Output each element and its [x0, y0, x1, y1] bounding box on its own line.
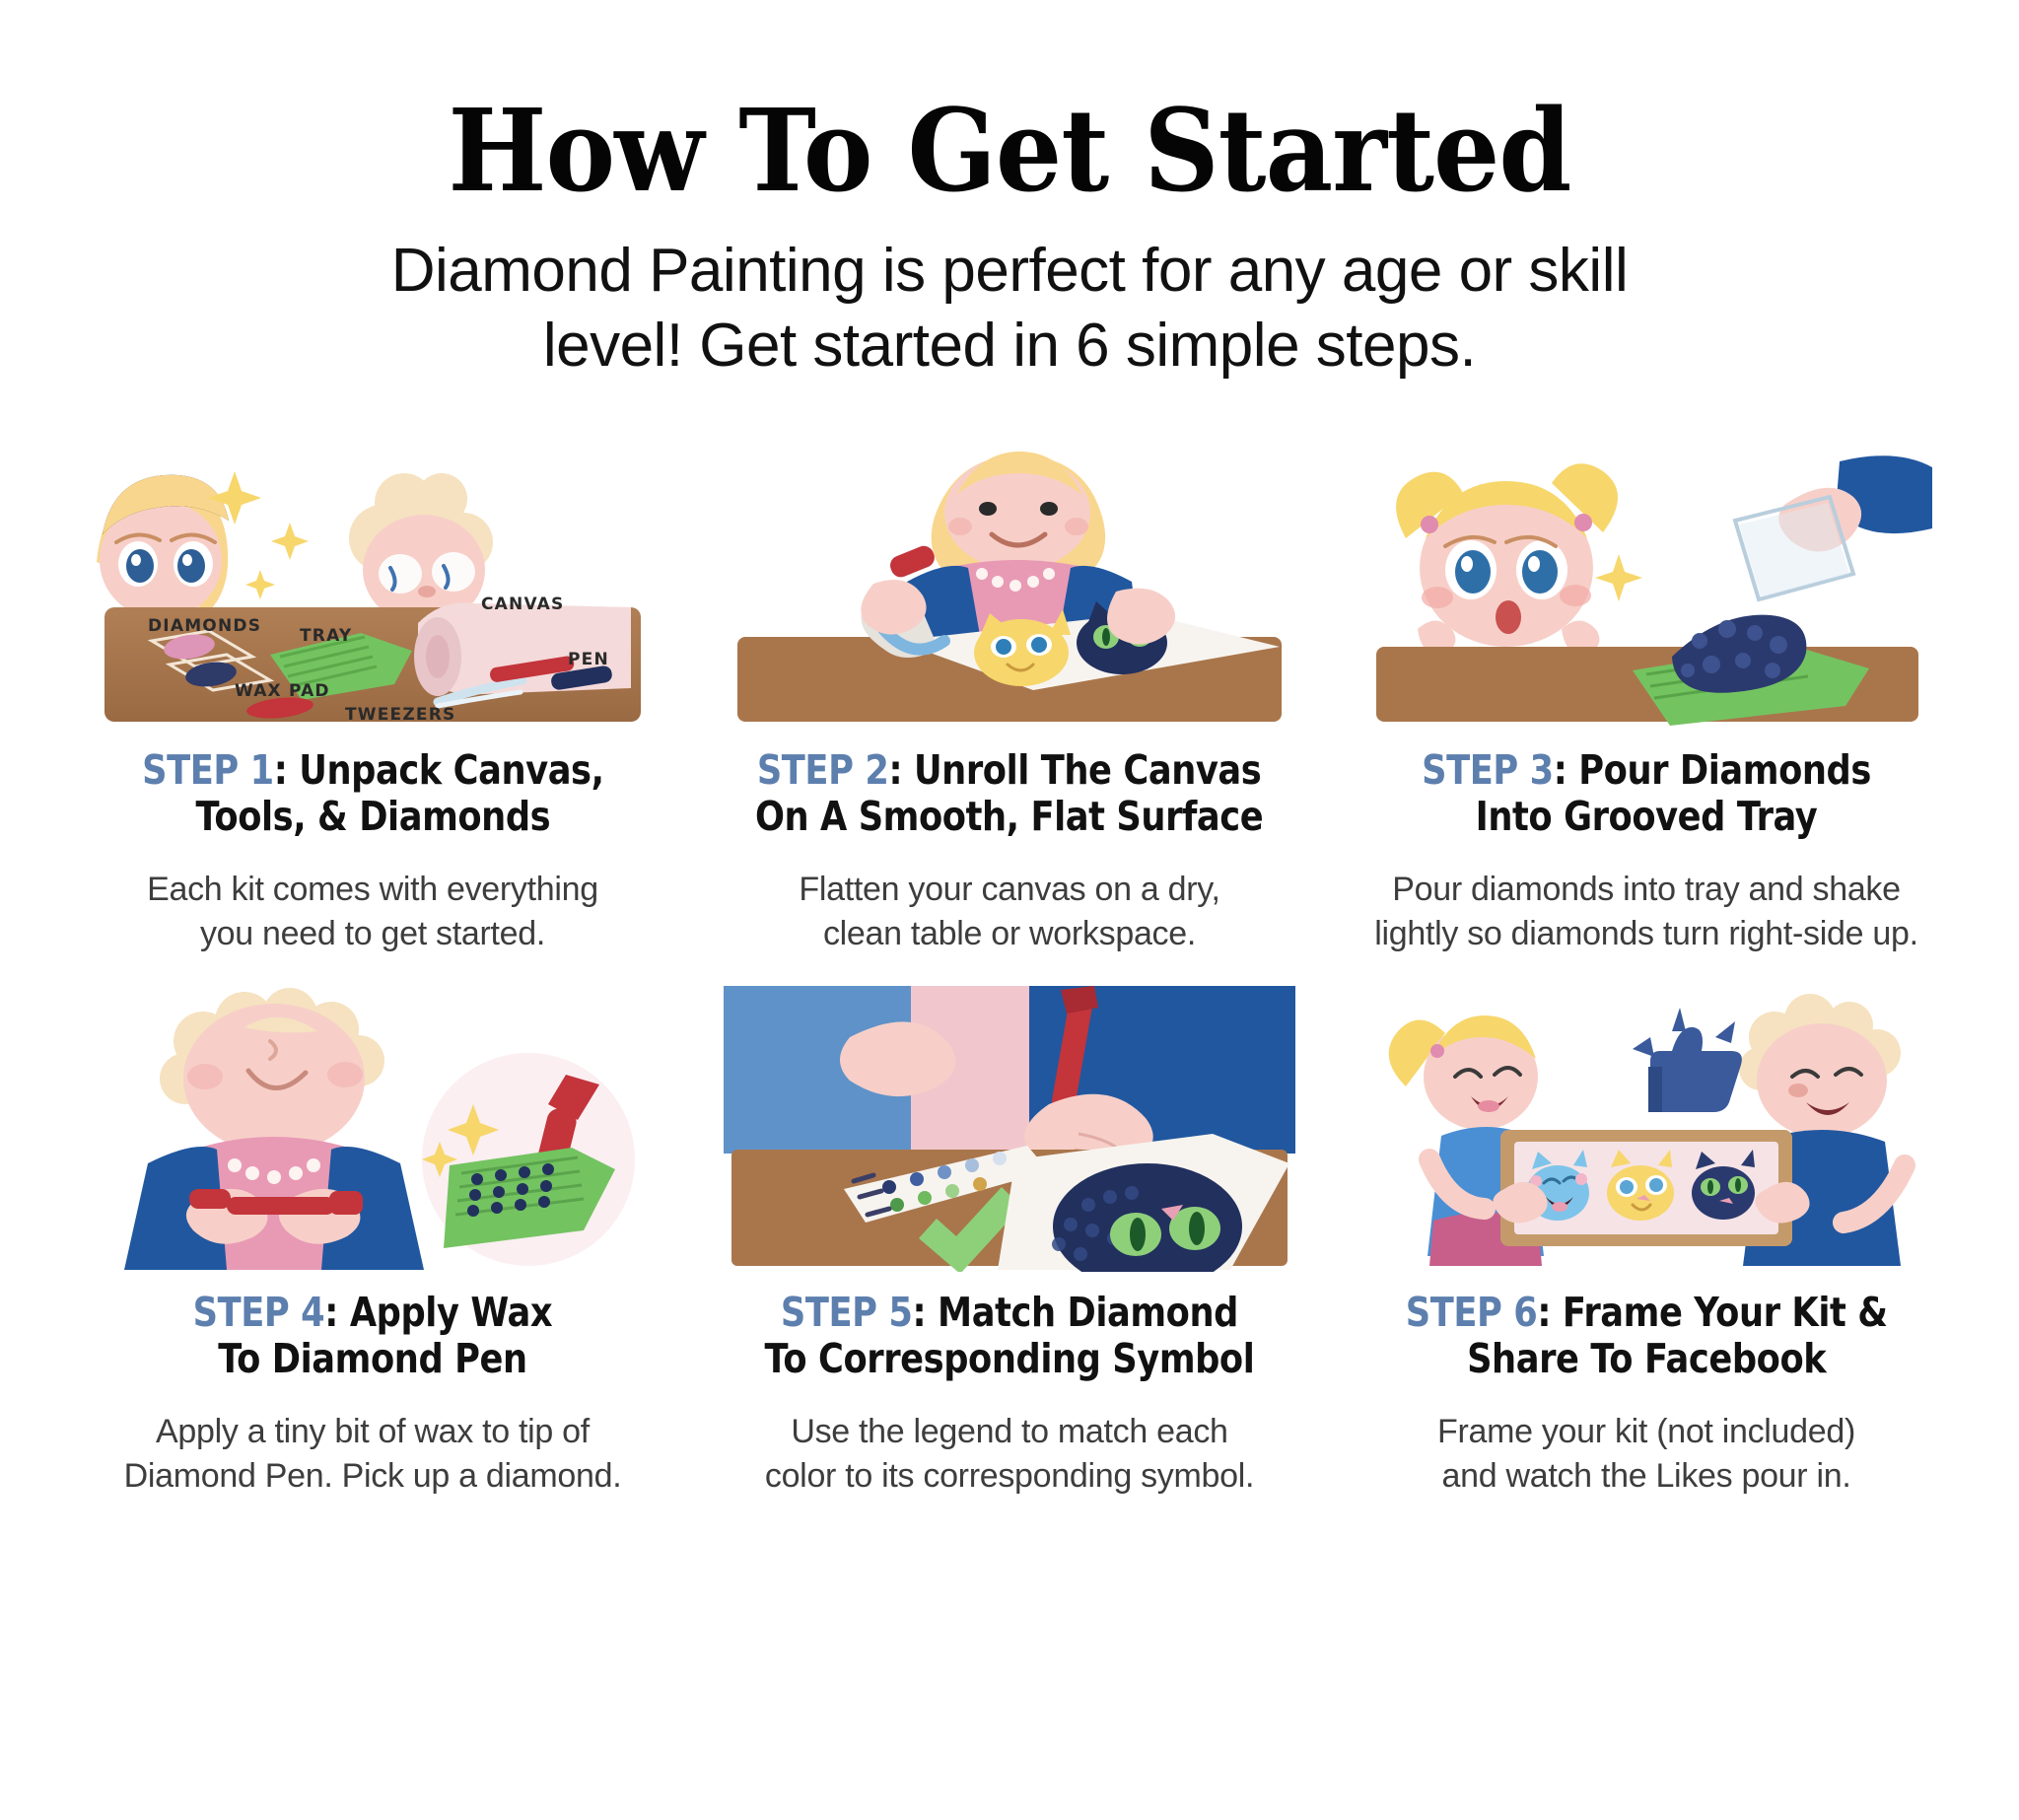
step-body-line1-1: Each kit comes with everything: [147, 868, 598, 912]
subtitle-line-1: Diamond Painting is perfect for any age …: [0, 234, 2019, 309]
step-title-line1-1: Unpack Canvas,: [299, 746, 603, 794]
step-label-2: STEP 2: [757, 746, 889, 794]
step-title-line2-5: To Corresponding Symbol: [765, 1335, 1255, 1382]
step-body-line2-1: you need to get started.: [147, 912, 598, 956]
step-label-5: STEP 5: [781, 1289, 913, 1336]
step-label-4: STEP 4: [193, 1289, 325, 1336]
page-subtitle: Diamond Painting is perfect for any age …: [0, 234, 2019, 383]
step-title-line2-6: Share To Facebook: [1467, 1335, 1826, 1382]
subtitle-line-2: level! Get started in 6 simple steps.: [0, 309, 2019, 384]
step-card-6: STEP 6: Frame Your Kit & Share To Facebo…: [1328, 986, 1965, 1499]
step-label-6: STEP 6: [1406, 1289, 1538, 1336]
unroll-canvas-illustration: [724, 444, 1295, 730]
step-separator-5: :: [913, 1289, 927, 1336]
step-title-line2-4: To Diamond Pen: [218, 1335, 526, 1382]
step-heading-4: STEP 4: Apply Wax To Diamond Pen: [193, 1290, 553, 1381]
label-tray: TRAY: [300, 626, 352, 646]
diamond-jar: [1735, 497, 1853, 599]
zoom-detail-circle: [422, 1053, 635, 1266]
label-pen: PEN: [568, 650, 609, 669]
step-label-1: STEP 1: [142, 746, 274, 794]
step-body-line2-2: clean table or workspace.: [799, 912, 1219, 956]
facebook-like-icon: [1633, 1008, 1742, 1112]
step-title-line1-4: Apply Wax: [350, 1289, 552, 1336]
step-label-3: STEP 3: [1422, 746, 1554, 794]
step-separator-1: :: [273, 746, 287, 794]
step-body-line2-5: color to its corresponding symbol.: [765, 1454, 1254, 1499]
sparkle-icon: [1595, 554, 1642, 601]
label-wax-pad: WAX PAD: [235, 681, 330, 701]
frame-kit-share-facebook-illustration: [1360, 986, 1932, 1272]
step-card-5: STEP 5: Match Diamond To Corresponding S…: [691, 986, 1328, 1499]
step-separator-4: :: [324, 1289, 338, 1336]
steps-grid: DIAMONDS TRAY WAX PAD TWEEZERS CANVAS PE…: [0, 444, 2019, 1499]
step-body-line1-5: Use the legend to match each: [765, 1410, 1254, 1454]
step-body-line1-4: Apply a tiny bit of wax to tip of: [124, 1410, 622, 1454]
step-heading-6: STEP 6: Frame Your Kit & Share To Facebo…: [1406, 1290, 1888, 1381]
step-heading-3: STEP 3: Pour Diamonds Into Grooved Tray: [1422, 747, 1871, 839]
step-heading-2: STEP 2: Unroll The Canvas On A Smooth, F…: [755, 747, 1263, 839]
apply-wax-to-pen-illustration: [87, 986, 659, 1272]
step-card-2: STEP 2: Unroll The Canvas On A Smooth, F…: [691, 444, 1328, 956]
page-title: How To Get Started: [81, 95, 1938, 208]
step-heading-1: STEP 1: Unpack Canvas, Tools, & Diamonds: [142, 747, 603, 839]
step-title-line1-2: Unroll The Canvas: [914, 746, 1261, 794]
step-body-4: Apply a tiny bit of wax to tip of Diamon…: [124, 1410, 622, 1499]
step-body-line2-3: lightly so diamonds turn right-side up.: [1374, 912, 1917, 956]
step-body-1: Each kit comes with everything you need …: [147, 868, 598, 956]
step-title-line2-1: Tools, & Diamonds: [195, 793, 550, 840]
step-title-line2-3: Into Grooved Tray: [1476, 793, 1818, 840]
pour-diamonds-into-tray-illustration: [1360, 444, 1932, 730]
step-separator-6: :: [1537, 1289, 1551, 1336]
step-body-2: Flatten your canvas on a dry, clean tabl…: [799, 868, 1219, 956]
step-title-line2-2: On A Smooth, Flat Surface: [755, 793, 1263, 840]
step-separator-2: :: [889, 746, 903, 794]
step-heading-5: STEP 5: Match Diamond To Corresponding S…: [765, 1290, 1255, 1381]
header: How To Get Started Diamond Painting is p…: [0, 95, 2019, 383]
step-body-6: Frame your kit (not included) and watch …: [1437, 1410, 1855, 1499]
step-body-3: Pour diamonds into tray and shake lightl…: [1374, 868, 1917, 956]
step-body-line1-3: Pour diamonds into tray and shake: [1374, 868, 1917, 912]
infographic-page: How To Get Started Diamond Painting is p…: [0, 0, 2019, 1820]
step-title-line1-3: Pour Diamonds: [1578, 746, 1871, 794]
unpack-canvas-tools-diamonds-illustration: DIAMONDS TRAY WAX PAD TWEEZERS CANVAS PE…: [87, 444, 659, 730]
step-body-line1-6: Frame your kit (not included): [1437, 1410, 1855, 1454]
step-card-1: DIAMONDS TRAY WAX PAD TWEEZERS CANVAS PE…: [54, 444, 691, 956]
girl-character: [97, 475, 229, 619]
step-title-line1-6: Frame Your Kit &: [1563, 1289, 1888, 1336]
label-diamonds: DIAMONDS: [148, 616, 261, 636]
step-body-line1-2: Flatten your canvas on a dry,: [799, 868, 1219, 912]
step-title-line1-5: Match Diamond: [938, 1289, 1238, 1336]
step-separator-3: :: [1554, 746, 1567, 794]
boy-character: [349, 473, 493, 625]
match-diamond-to-symbol-illustration: [724, 986, 1295, 1272]
step-body-5: Use the legend to match each color to it…: [765, 1410, 1254, 1499]
label-tweezers: TWEEZERS: [345, 705, 455, 725]
framed-artwork: [1500, 1130, 1792, 1246]
step-card-3: STEP 3: Pour Diamonds Into Grooved Tray …: [1328, 444, 1965, 956]
label-canvas: CANVAS: [481, 595, 564, 614]
person-character: [124, 988, 424, 1270]
step-body-line2-6: and watch the Likes pour in.: [1437, 1454, 1855, 1499]
step-body-line2-4: Diamond Pen. Pick up a diamond.: [124, 1454, 622, 1499]
step-card-4: STEP 4: Apply Wax To Diamond Pen Apply a…: [54, 986, 691, 1499]
girl-character: [1396, 464, 1618, 655]
